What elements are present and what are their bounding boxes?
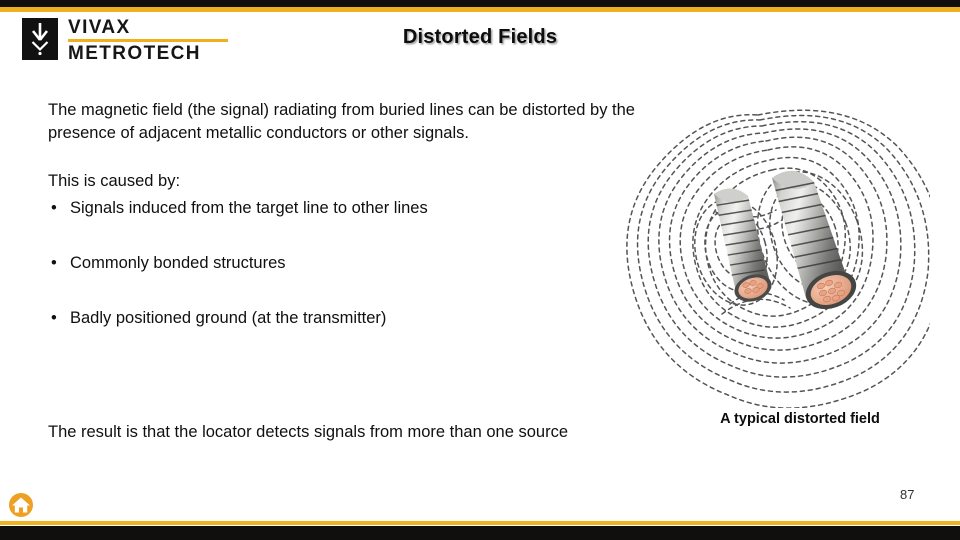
page-number: 87 (900, 487, 940, 502)
distorted-field-illustration (612, 108, 930, 408)
intro-paragraph: The magnetic field (the signal) radiatin… (48, 99, 658, 145)
magnetic-field-contours (627, 110, 930, 408)
result-paragraph: The result is that the locator detects s… (48, 421, 728, 444)
list-item-label: Signals induced from the target line to … (70, 199, 428, 217)
cable-small (712, 188, 775, 306)
list-item-label: Badly positioned ground (at the transmit… (70, 309, 386, 327)
cause-lead-in: This is caused by: (48, 170, 658, 193)
bullet-marker-icon: • (51, 307, 57, 329)
home-icon[interactable] (8, 492, 34, 518)
figure-caption: A typical distorted field (660, 411, 940, 427)
body-content: The magnetic field (the signal) radiatin… (48, 99, 658, 329)
top-black-band (0, 0, 960, 7)
field-diagram-svg (612, 108, 930, 408)
bullet-marker-icon: • (51, 197, 57, 219)
bottom-gold-band (0, 521, 960, 525)
slide-canvas: VIVAX METROTECH Distorted Fields The mag… (0, 0, 960, 540)
cause-bullet-list: • Signals induced from the target line t… (48, 197, 658, 329)
bottom-black-band (0, 526, 960, 540)
list-item: • Commonly bonded structures (48, 252, 658, 274)
bullet-marker-icon: • (51, 252, 57, 274)
page-title: Distorted Fields (0, 26, 960, 49)
list-item: • Signals induced from the target line t… (48, 197, 658, 219)
list-item-label: Commonly bonded structures (70, 254, 286, 272)
top-gold-band (0, 7, 960, 12)
list-item: • Badly positioned ground (at the transm… (48, 307, 658, 329)
